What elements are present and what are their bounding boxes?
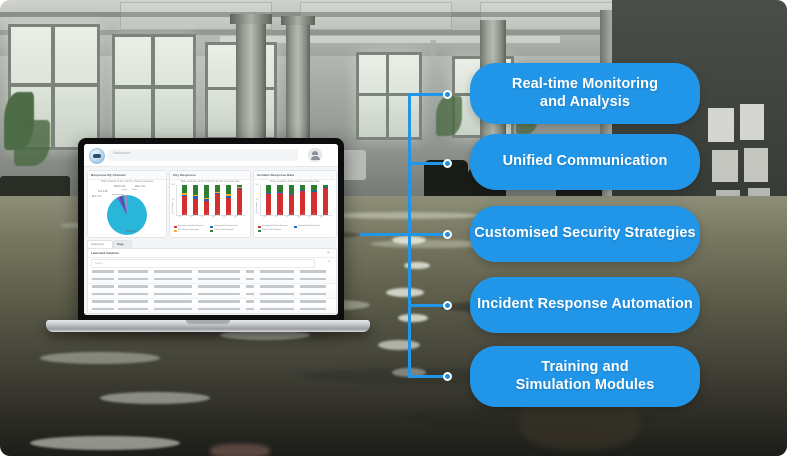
feature-pill-incident-response-automation[interactable]: Incident Response Automation bbox=[470, 277, 700, 333]
bar-segment bbox=[193, 185, 198, 195]
table-search-input[interactable]: Search bbox=[91, 259, 315, 268]
tab-label: Flags bbox=[117, 243, 124, 246]
table-cell bbox=[260, 293, 294, 296]
table-cell bbox=[118, 270, 148, 273]
paper-sheet bbox=[708, 108, 734, 142]
bar bbox=[237, 185, 242, 215]
card-title: City Response bbox=[173, 173, 196, 177]
table-cell bbox=[92, 300, 114, 303]
table-row[interactable] bbox=[88, 306, 336, 314]
dashboard-app: Dashboard Response By Channel ⌄ Total in… bbox=[84, 144, 338, 315]
chevron-down-icon[interactable]: ⌄ bbox=[330, 174, 333, 178]
table-cell bbox=[154, 308, 192, 311]
table-cell bbox=[246, 293, 254, 296]
y-tick: 100 bbox=[255, 184, 259, 186]
card-title: Response By Channel bbox=[91, 173, 126, 177]
bar bbox=[182, 185, 187, 215]
bar bbox=[193, 185, 198, 215]
stacked-bar-chart bbox=[179, 185, 245, 215]
legend-label: Emergency Medical Services bbox=[262, 225, 288, 227]
more-icon[interactable]: ▦ ⋯ bbox=[327, 251, 333, 254]
pie-label: Web 2.04 bbox=[135, 186, 145, 188]
feature-pill-customised-security-strategies[interactable]: Customised Security Strategies bbox=[470, 206, 700, 262]
feature-pill-label: Training and Simulation Modules bbox=[516, 359, 655, 394]
card-incident-response-rate: Incident Response Rate ⌄ Rate of actions… bbox=[253, 170, 337, 238]
plant bbox=[14, 120, 50, 166]
table-cell bbox=[92, 270, 114, 273]
table-cell bbox=[154, 278, 192, 281]
legend-swatch bbox=[258, 226, 261, 228]
bar-segment bbox=[204, 198, 209, 199]
table-cell bbox=[300, 285, 326, 288]
bar-segment bbox=[193, 195, 198, 197]
feature-pill-training-and-simulation-modules[interactable]: Training and Simulation Modules bbox=[470, 346, 700, 407]
table-cell bbox=[260, 270, 294, 273]
y-tick: 0 bbox=[173, 213, 174, 215]
chevron-down-icon[interactable]: ⌄ bbox=[244, 174, 247, 178]
paper-sheet bbox=[744, 148, 768, 182]
column-capital bbox=[281, 16, 315, 25]
table-cell bbox=[92, 285, 114, 288]
bar-segment bbox=[204, 185, 209, 198]
y-tick: 100 bbox=[171, 184, 175, 186]
bar-segment bbox=[266, 193, 271, 194]
bar-segment bbox=[226, 194, 231, 196]
bar-segment bbox=[215, 193, 220, 194]
bar-segment bbox=[289, 194, 294, 195]
table-cell bbox=[198, 270, 240, 273]
bar bbox=[226, 185, 231, 215]
card-subtitle: Total incidents of the chart by channel … bbox=[88, 180, 166, 183]
pie-label: Text 2.08 bbox=[98, 191, 107, 193]
table-cell bbox=[246, 278, 254, 281]
dashboard-topbar: Dashboard bbox=[84, 144, 338, 167]
bar-segment bbox=[323, 185, 328, 187]
table-cell bbox=[154, 300, 192, 303]
y-tick: 50 bbox=[256, 199, 258, 201]
card-header: Incident Response Rate ⌄ bbox=[254, 171, 336, 180]
bar bbox=[311, 185, 316, 215]
table-cell bbox=[260, 308, 294, 311]
tab-label: Dashboard bbox=[91, 243, 104, 246]
window bbox=[112, 34, 196, 144]
table-body bbox=[88, 268, 336, 313]
table-cell bbox=[118, 293, 148, 296]
bar-segment bbox=[237, 187, 242, 188]
legend-label: Incident Resolution Rate bbox=[298, 225, 320, 227]
promo-graphic: Dashboard Response By Channel ⌄ Total in… bbox=[0, 0, 787, 465]
bar-segment bbox=[226, 196, 231, 198]
table-cell bbox=[118, 300, 148, 303]
paper-sheet bbox=[712, 150, 738, 182]
pie-label: Eml 1.41 bbox=[92, 196, 101, 198]
bar-segment bbox=[237, 185, 242, 187]
bar-segment bbox=[182, 193, 187, 194]
table-cell bbox=[154, 293, 192, 296]
legend-swatch bbox=[210, 226, 213, 228]
table-cell bbox=[198, 285, 240, 288]
bar-segment bbox=[300, 190, 305, 191]
bar-segment bbox=[182, 185, 187, 193]
bar-segment bbox=[311, 191, 316, 192]
legend-label: Police Patrol Dispatch bbox=[214, 229, 234, 231]
y-axis-label: Percentage bbox=[256, 202, 258, 213]
feature-pill-label: Unified Communication bbox=[503, 153, 668, 171]
bar-segment bbox=[182, 195, 187, 197]
table-cell bbox=[260, 285, 294, 288]
pie-label: 988 93.08 bbox=[126, 231, 136, 233]
legend-swatch bbox=[294, 226, 297, 228]
legend-swatch bbox=[258, 230, 261, 232]
table-cell bbox=[198, 300, 240, 303]
bar-segment bbox=[237, 188, 242, 189]
card-response-by-channel: Response By Channel ⌄ Total incidents of… bbox=[87, 170, 167, 238]
bar bbox=[300, 185, 305, 215]
bar bbox=[289, 185, 294, 215]
plant bbox=[436, 96, 462, 136]
laptop-notch bbox=[186, 320, 230, 324]
bar bbox=[215, 185, 220, 215]
table-cell bbox=[198, 308, 240, 311]
table-cell bbox=[300, 300, 326, 303]
column-capital bbox=[230, 14, 272, 24]
avatar[interactable] bbox=[308, 148, 322, 162]
table-cell bbox=[92, 278, 114, 281]
table-cell bbox=[300, 270, 326, 273]
window bbox=[356, 52, 422, 140]
bar-segment bbox=[215, 192, 220, 193]
table-cell bbox=[300, 278, 326, 281]
bar-segment bbox=[215, 185, 220, 192]
table-cell bbox=[198, 293, 240, 296]
bar-segment bbox=[311, 185, 316, 191]
app-logo-icon bbox=[89, 148, 105, 164]
laptop-screen: Dashboard Response By Channel ⌄ Total in… bbox=[84, 144, 338, 315]
table-header: Launched Incidents ▦ ⋯ bbox=[88, 249, 336, 258]
bar-segment bbox=[226, 185, 231, 194]
feature-pill-unified-communication[interactable]: Unified Communication bbox=[470, 134, 700, 190]
legend-swatch bbox=[210, 230, 213, 232]
card-city-response: City Response ⌄ Rate of actions of the c… bbox=[169, 170, 251, 238]
feature-pill-real-time-monitoring[interactable]: Real-time Monitoring and Analysis bbox=[470, 63, 700, 124]
bar-segment bbox=[323, 187, 328, 215]
bar-segment bbox=[300, 185, 305, 190]
table-cell bbox=[154, 285, 192, 288]
card-header: Response By Channel ⌄ bbox=[88, 171, 166, 180]
paper-sheet bbox=[740, 104, 764, 140]
table-cell bbox=[246, 300, 254, 303]
bar-segment bbox=[193, 196, 198, 198]
bar bbox=[323, 185, 328, 215]
table-cell bbox=[260, 278, 294, 281]
table-title: Launched Incidents bbox=[91, 251, 119, 255]
stacked-bar-chart bbox=[263, 185, 331, 215]
legend-label: Police Patrol Dispatch bbox=[262, 229, 282, 231]
table-cell bbox=[92, 308, 114, 311]
card-subtitle: Rate of actions of the chart by city and… bbox=[170, 180, 250, 183]
legend-label: Fire Rescue Operations bbox=[178, 229, 199, 231]
table-cell bbox=[300, 293, 326, 296]
search-input[interactable]: Dashboard bbox=[108, 149, 298, 161]
debris bbox=[210, 444, 270, 456]
feature-pill-label: Real-time Monitoring and Analysis bbox=[512, 76, 658, 111]
bar bbox=[266, 185, 271, 215]
feature-pill-label: Customised Security Strategies bbox=[474, 225, 695, 243]
table-cell bbox=[92, 293, 114, 296]
y-tick: 50 bbox=[172, 199, 174, 201]
legend-swatch bbox=[174, 230, 177, 232]
bar-segment bbox=[237, 189, 242, 215]
table-search-placeholder: Search bbox=[95, 262, 103, 265]
bar-segment bbox=[266, 185, 271, 193]
laptop-mockup: Dashboard Response By Channel ⌄ Total in… bbox=[46, 138, 370, 333]
bar bbox=[204, 185, 209, 215]
table-cell bbox=[246, 270, 254, 273]
bar bbox=[277, 185, 282, 215]
laptop-lid: Dashboard Response By Channel ⌄ Total in… bbox=[78, 138, 344, 324]
chevron-down-icon[interactable]: ⌄ bbox=[160, 174, 163, 178]
legend-swatch bbox=[174, 226, 177, 228]
bar-segment bbox=[289, 185, 294, 194]
legend-label: Response Resolution Time bbox=[214, 225, 238, 227]
card-title: Incident Response Rate bbox=[257, 173, 294, 177]
table-cell bbox=[118, 278, 148, 281]
y-axis-label: Percentage bbox=[172, 202, 174, 213]
density-icon[interactable]: ▤ ⌄ bbox=[328, 260, 333, 263]
incidents-table-card: Launched Incidents ▦ ⋯ Search ▤ ⌄ bbox=[87, 248, 337, 314]
pie-chart bbox=[107, 195, 147, 235]
bar-segment bbox=[323, 187, 328, 188]
table-cell bbox=[246, 285, 254, 288]
table-cell bbox=[154, 270, 192, 273]
card-header: City Response ⌄ bbox=[170, 171, 250, 180]
table-cell bbox=[198, 278, 240, 281]
table-cell bbox=[300, 308, 326, 311]
pie-label: M000 1.39 bbox=[114, 186, 125, 188]
bottom-strip bbox=[0, 456, 787, 465]
bar-segment bbox=[277, 193, 282, 215]
table-cell bbox=[246, 308, 254, 311]
y-tick: 0 bbox=[257, 213, 258, 215]
card-subtitle: Rate of actions of the events committed … bbox=[254, 180, 336, 183]
bar-segment bbox=[277, 185, 282, 192]
legend-label: Emergency Medical Services bbox=[178, 225, 204, 227]
ceiling-panel bbox=[300, 2, 452, 30]
bar-segment bbox=[277, 192, 282, 193]
search-placeholder: Dashboard bbox=[113, 151, 130, 155]
feature-pill-label: Incident Response Automation bbox=[477, 296, 693, 314]
table-cell bbox=[118, 308, 148, 311]
bar-segment bbox=[204, 199, 209, 201]
table-cell bbox=[118, 285, 148, 288]
table-cell bbox=[260, 300, 294, 303]
